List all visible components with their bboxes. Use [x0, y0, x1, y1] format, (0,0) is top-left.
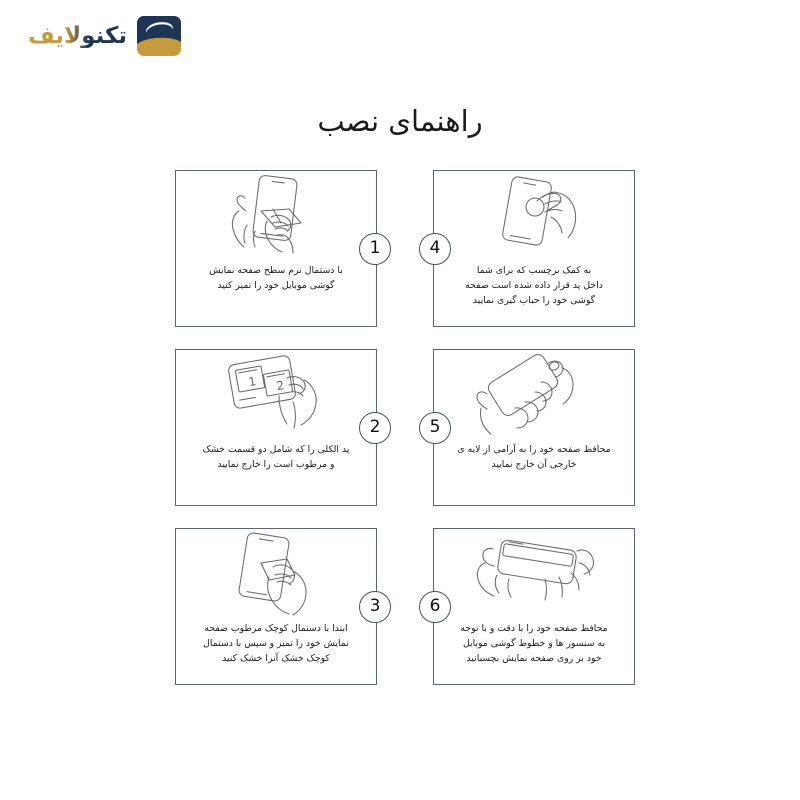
- brand-name: تکنولایف: [28, 25, 127, 48]
- step-panel-2: 2 1 2: [175, 349, 377, 506]
- step-panel-1: 1: [175, 170, 377, 327]
- step-panel-5: 5: [433, 349, 635, 506]
- step-caption-2: پد الکلی را که شامل دو قسمت خشکو مرطوب ا…: [176, 438, 376, 472]
- step-illustration-5: [434, 350, 634, 438]
- step-panel-3: 3 ابتدا با دستمال کوچک: [175, 528, 377, 685]
- step-badge-6: 6: [419, 591, 451, 623]
- step-illustration-6: [434, 529, 634, 617]
- installation-steps-grid: 1: [175, 170, 635, 707]
- svg-text:2: 2: [275, 378, 285, 393]
- step-caption-3: ابتدا با دستمال کوچک مرطوب صفحهنمایش خود…: [176, 617, 376, 666]
- brand-logo: تکنولایف: [28, 12, 183, 60]
- step-badge-1: 1: [359, 233, 391, 265]
- technolife-logo-icon: [135, 12, 183, 60]
- step-panel-6: 6: [433, 528, 635, 685]
- page-title: راهنمای نصب: [0, 104, 800, 138]
- step-caption-4: به کمک برچسب که برای شماداخل پد قرار داد…: [434, 259, 634, 308]
- step-caption-1: با دستمال نرم سطح صفحه نمایشگوشی موبایل …: [176, 259, 376, 293]
- svg-text:1: 1: [247, 374, 257, 389]
- step-badge-5: 5: [419, 412, 451, 444]
- step-caption-6: محافظ صفحه خود را با دقت و با توجهبه سنس…: [434, 617, 634, 666]
- step-caption-5: محافظ صفحه خود را به آرامی از لایه یخارج…: [434, 438, 634, 472]
- step-illustration-4: [434, 171, 634, 259]
- step-illustration-1: [176, 171, 376, 259]
- step-badge-4: 4: [419, 233, 451, 265]
- step-panel-4: 4 به کمک بر: [433, 170, 635, 327]
- step-badge-2: 2: [359, 412, 391, 444]
- step-illustration-3: [176, 529, 376, 617]
- step-illustration-2: 1 2: [176, 350, 376, 438]
- step-badge-3: 3: [359, 591, 391, 623]
